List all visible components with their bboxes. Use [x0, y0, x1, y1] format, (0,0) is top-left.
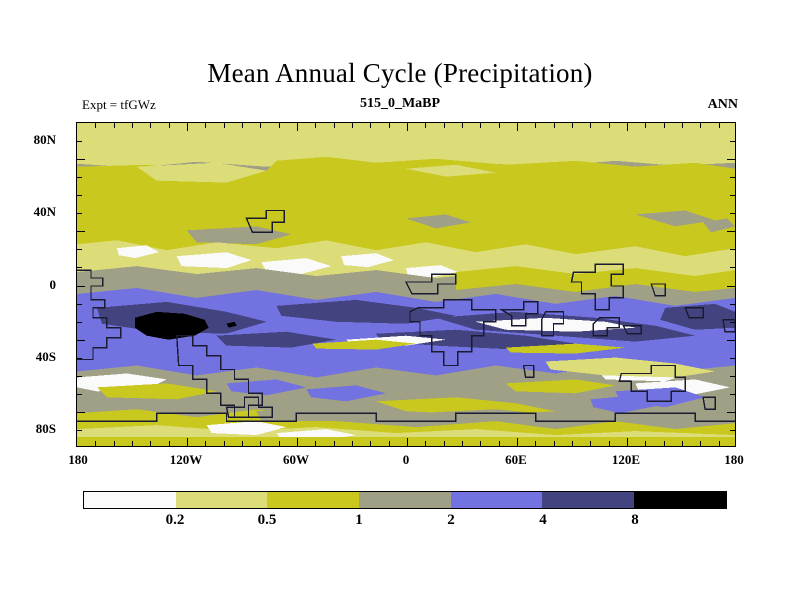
- colorbar-band-5: [542, 492, 634, 508]
- colorbar-band-4: [451, 492, 543, 508]
- season-label: ANN: [708, 97, 738, 113]
- x-tick-label-0: 0: [403, 452, 410, 468]
- y-tick-label-40n: 40N: [34, 204, 56, 220]
- axis-ticks: [77, 123, 735, 446]
- x-tick-label-60w: 60W: [283, 452, 309, 468]
- x-tick-label-120w: 120W: [170, 452, 203, 468]
- colorbar-tick-4: 4: [539, 512, 547, 529]
- precipitation-map: [76, 122, 736, 447]
- colorbar-tick-8: 8: [631, 512, 639, 529]
- x-tick-label-180w: 180: [68, 452, 88, 468]
- colorbar-band-2: [267, 492, 359, 508]
- colorbar-tick-2: 2: [447, 512, 455, 529]
- colorbar: [83, 491, 727, 509]
- experiment-label: Expt = tfGWz: [82, 97, 156, 113]
- y-tick-label-0: 0: [50, 277, 57, 293]
- colorbar-tick-1: 1: [355, 512, 363, 529]
- colorbar-band-0: [84, 492, 176, 508]
- y-tick-label-80n: 80N: [34, 132, 56, 148]
- x-tick-label-60e: 60E: [505, 452, 527, 468]
- colorbar-tick-0-2: 0.2: [166, 512, 185, 529]
- y-tick-label-40s: 40S: [36, 349, 56, 365]
- figure-root: Mean Annual Cycle (Precipitation) 515_0_…: [0, 0, 800, 600]
- colorbar-band-3: [359, 492, 451, 508]
- x-tick-label-120e: 120E: [612, 452, 640, 468]
- colorbar-band-6: [634, 492, 726, 508]
- page-title: Mean Annual Cycle (Precipitation): [0, 58, 800, 89]
- y-tick-label-80s: 80S: [36, 421, 56, 437]
- x-tick-label-180e: 180: [724, 452, 744, 468]
- colorbar-tick-0-5: 0.5: [258, 512, 277, 529]
- colorbar-band-1: [176, 492, 268, 508]
